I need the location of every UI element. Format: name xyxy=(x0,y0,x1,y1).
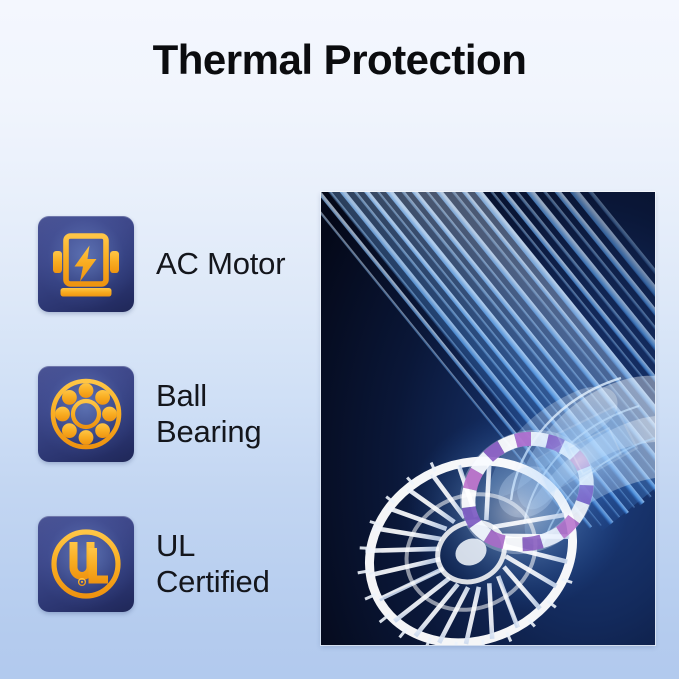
ball-bearing-icon-tile xyxy=(38,366,134,462)
feature-label-ul-certified: UL Certified xyxy=(156,528,270,600)
feature-label-ac-motor: AC Motor xyxy=(156,246,285,282)
page-title: Thermal Protection xyxy=(0,36,679,84)
feature-item-ball-bearing: Ball Bearing xyxy=(38,366,300,462)
feature-list: AC Motor xyxy=(38,216,300,612)
feature-item-ul-certified: UL Certified xyxy=(38,516,300,612)
feature-label-ball-bearing: Ball Bearing xyxy=(156,378,261,450)
fan-motor-airflow-photo xyxy=(321,192,655,645)
ul-certified-icon-tile xyxy=(38,516,134,612)
thermal-protection-infographic: Thermal Protection xyxy=(0,0,679,679)
ul-certified-icon xyxy=(48,526,124,602)
ac-motor-icon xyxy=(48,226,124,302)
ball-bearing-icon xyxy=(48,376,124,452)
ac-motor-icon-tile xyxy=(38,216,134,312)
feature-item-ac-motor: AC Motor xyxy=(38,216,300,312)
